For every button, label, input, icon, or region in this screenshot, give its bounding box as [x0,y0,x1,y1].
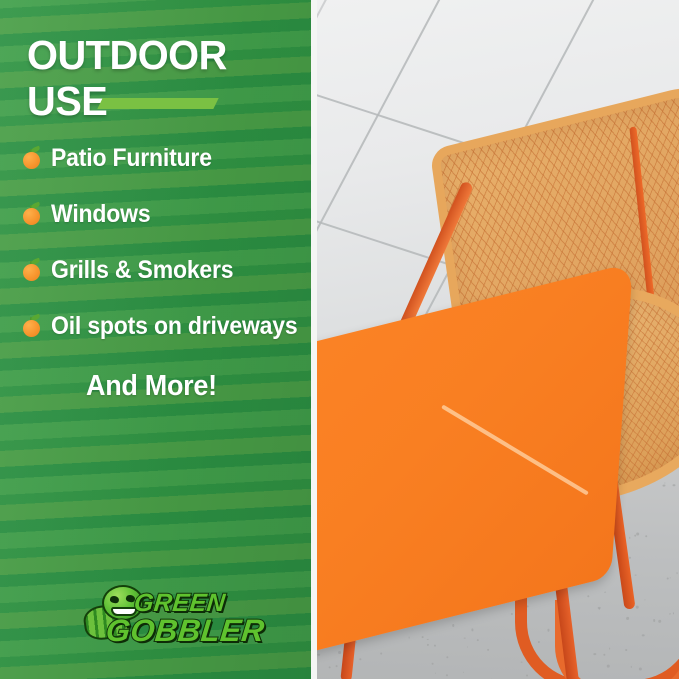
outdoor-use-list: Patio Furniture Windows Grills & Smokers [22,130,311,354]
and-more-text: And More! [86,370,217,403]
list-item-label: Windows [51,200,150,228]
orange-fruit-bullet-icon [22,146,42,170]
list-item: Windows [22,186,311,242]
info-panel: OUTDOOR USE Patio Furniture Windows [0,0,311,679]
panel-divider [311,0,317,679]
list-item-label: Grills & Smokers [51,256,233,284]
list-item-label: Oil spots on driveways [51,312,297,340]
orange-fruit-bullet-icon [22,258,42,282]
product-infographic-poster: OUTDOOR USE Patio Furniture Windows [0,0,679,679]
list-item: Grills & Smokers [22,242,311,298]
title-accent-bar [97,98,218,109]
brand-name-line-2: GOBBLER [104,613,266,649]
list-item: Patio Furniture [22,130,311,186]
page-title: OUTDOOR USE [27,32,299,124]
brand-logo: GREEN GOBBLER [72,583,242,653]
list-item-label: Patio Furniture [51,144,212,172]
orange-fruit-bullet-icon [22,314,42,338]
list-item: Oil spots on driveways [22,298,311,354]
orange-fruit-bullet-icon [22,202,42,226]
